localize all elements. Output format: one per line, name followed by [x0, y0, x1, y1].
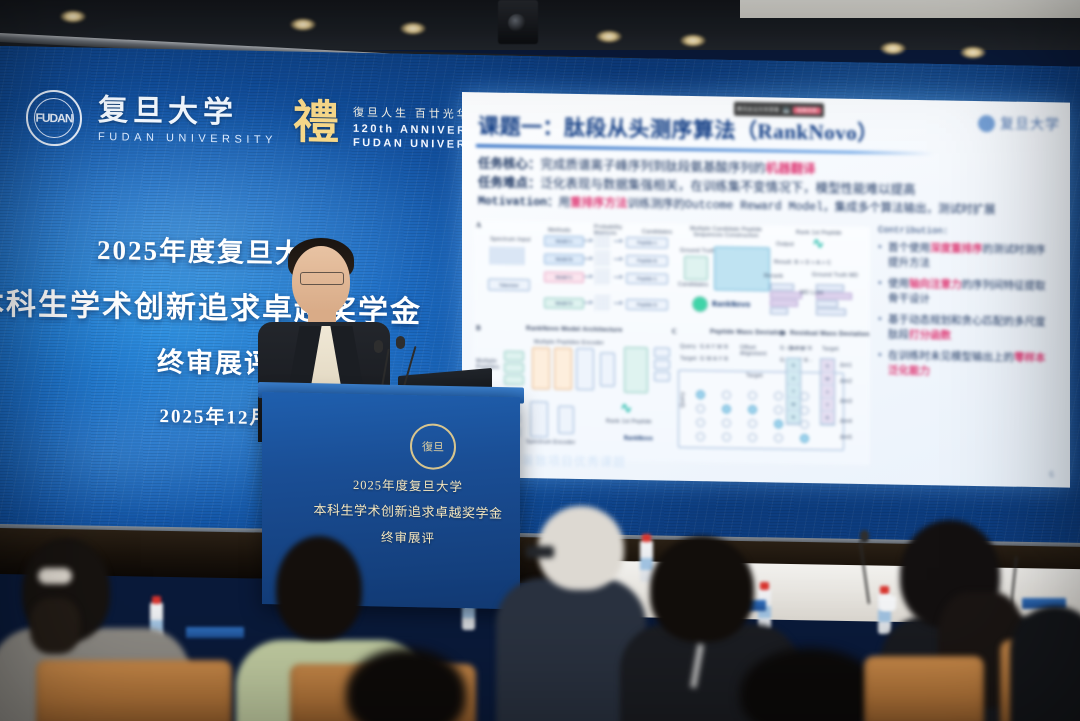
panel-c-query-seq: G A Y W R — [700, 344, 728, 350]
panel-a-input-label: Spectrum Input — [490, 236, 531, 243]
dot-cell — [696, 432, 705, 441]
panel-d-caption: Residual Mass Deviation — [790, 330, 870, 338]
panel-b-rank-label: Rank 1st Peptide — [606, 419, 652, 426]
podium-microphone-head — [374, 340, 383, 353]
contribution-item: 在训练时未见模型输出上的零样本泛化能力 — [878, 348, 1054, 381]
downlight — [680, 34, 706, 47]
panel-b-encoder-label: Multiple Peptides Encoder — [534, 339, 604, 346]
panel-c-query-label: Query — [680, 344, 696, 350]
body-line-3-text-pre: 用 — [559, 197, 571, 210]
spectrum-plot-icon — [490, 246, 524, 265]
speaker-glasses-icon — [300, 272, 344, 285]
body-line-3-text-post: 训练测序的Outcome Reward Model，集成多个算法输出，测试时扩展 — [628, 198, 996, 217]
dot-cell — [800, 434, 809, 443]
rerank-bar — [770, 307, 788, 314]
contribution-item: 基于动态规划和贪心匹配的多尺度肽段打分函数 — [878, 312, 1054, 345]
peptide-curve-icon: ∿ — [620, 401, 633, 416]
gt-bar — [816, 308, 846, 316]
contribution-item: 使用轴向注意力的序列间特征提取骨干设计 — [878, 276, 1054, 309]
podium-line1: 2025年度复旦大学 — [302, 473, 514, 496]
ground-truth-label: Ground Truth — [680, 248, 715, 255]
candidate-table-icon — [714, 246, 770, 291]
fudan-wordmark-cn: 复旦大学 — [98, 95, 277, 128]
podium-microphone-head — [396, 336, 405, 349]
fudan-seal-icon — [978, 115, 995, 132]
bottle-cap — [152, 596, 161, 604]
contribution-heading: Contribution: — [878, 225, 1054, 238]
dot-cell — [696, 390, 705, 399]
paper-cup — [880, 596, 896, 611]
anniversary-glyph-icon: 禮 — [293, 100, 337, 147]
model-node: Model A — [544, 235, 584, 247]
output-label: Output — [776, 241, 794, 247]
body-line-3-highlight: 重排序方法 — [570, 197, 628, 211]
encoder-block — [532, 347, 550, 389]
panel-tag-d: D — [780, 330, 785, 338]
tokenizer-node: Tokenizer — [488, 278, 530, 291]
arrow-icon — [584, 302, 592, 303]
screen-share-label: 腾讯会议共享屏幕 — [737, 105, 779, 113]
slide-fudan-logo: 复旦大学 — [978, 113, 1060, 134]
peptide-node: Peptide B — [626, 255, 668, 267]
table-microphone-head — [860, 530, 869, 543]
out-token — [654, 347, 670, 357]
panel-d-query-label: Query — [788, 346, 804, 352]
encoder-block — [554, 348, 572, 390]
dot-cell — [748, 419, 757, 428]
ffn-block — [600, 352, 615, 386]
conference-photo: FUDAN 复旦大学 FUDAN UNIVERSITY 禮 復旦人生 百廿光华 … — [0, 0, 1080, 721]
audience-head — [276, 536, 362, 640]
probability-matrix-icon — [595, 269, 611, 285]
contribution-pre: 使用 — [888, 278, 909, 289]
hair-scrunchie — [38, 568, 72, 584]
deviation-label: Δm1 — [840, 363, 852, 369]
candidates-label: Candidates — [678, 282, 708, 289]
bottle-cap — [880, 586, 889, 594]
ground-truth-md-label: Ground Truth MD — [812, 272, 858, 279]
projector-camera-icon — [498, 0, 538, 44]
downlight — [880, 42, 906, 55]
panel-a-candidates-label: Candidates — [642, 229, 672, 236]
arrow-icon — [614, 277, 622, 278]
audience-head — [650, 536, 754, 642]
downlight — [60, 10, 86, 23]
chair — [864, 656, 984, 721]
seq-cell: A — [821, 385, 834, 398]
dot-cell — [774, 391, 783, 400]
arrow-icon — [614, 241, 622, 242]
peptide-node: Peptide C — [626, 273, 668, 285]
dot-cell — [774, 433, 783, 442]
fudan-seal-label: FUDAN — [36, 111, 73, 126]
dot-cell — [800, 406, 809, 415]
arrow-icon — [614, 303, 622, 304]
rerank-bar — [770, 291, 802, 299]
probability-matrix-icon — [595, 295, 611, 311]
peptide-input-node — [504, 375, 524, 385]
ground-truth-icon — [684, 256, 708, 280]
podium-seal-label: 復旦 — [422, 438, 444, 454]
seq-cell: W — [821, 372, 834, 385]
out-token — [654, 371, 670, 381]
dot-cell — [748, 405, 757, 414]
rerank-label: Rerank — [764, 273, 783, 279]
spectrum-encoder-block — [530, 401, 548, 437]
ceiling-panel — [740, 0, 1080, 18]
contribution-highlight: 打分函数 — [909, 330, 951, 342]
slide-body: 任务核心：完成质谱离子峰序列到肽段氨基酸序列的机器翻译 任务难点：泛化表现与数据… — [478, 154, 1038, 221]
slide-content: 复旦大学 腾讯会议共享屏幕 💻 结束共享 课题一：肽段从头测序算法（RankNo… — [462, 92, 1070, 488]
bottle-label — [640, 558, 653, 570]
bottle-cap — [760, 582, 769, 590]
dot-cell — [696, 418, 705, 427]
bottle-label — [878, 610, 891, 622]
panel-b-spectrum-encoder-label: Spectrum Encoder — [526, 439, 576, 446]
seq-cell: Y — [787, 385, 800, 398]
dot-cell — [722, 391, 731, 400]
audience-ponytail — [30, 598, 80, 654]
banner-branding: FUDAN 复旦大学 FUDAN UNIVERSITY 禮 復旦人生 百廿光华 … — [26, 89, 508, 154]
rerank-bar — [770, 299, 798, 306]
audience-shoulders — [1010, 606, 1080, 721]
panel-tag-c: C — [672, 328, 677, 336]
contribution-item: 首个使用深度重排序的测试时测序提升方法 — [878, 240, 1054, 273]
peptide-curve-icon: ∿ — [812, 236, 825, 251]
panel-c-align-label: Offset Alignment — [740, 345, 770, 358]
slide-figure: A Spectrum Input Tokenizer Methods Proba… — [474, 220, 870, 465]
panel-c-query-axis-label: Query — [680, 392, 686, 408]
bottle-cap — [642, 534, 651, 542]
panel-c-target-label: Target — [680, 356, 697, 362]
panel-a-methods-label: Methods — [548, 228, 571, 234]
stop-share-button[interactable]: 结束共享 — [793, 106, 821, 113]
arrow-icon — [584, 258, 592, 259]
arrow-icon — [584, 276, 592, 277]
dot-cell — [748, 391, 757, 400]
seq-cell: Y — [821, 398, 834, 411]
peptide-input-node — [504, 351, 524, 361]
panel-c-target-seq: G W A Y R — [700, 356, 728, 362]
body-line-1-highlight: 机器翻译 — [766, 161, 816, 176]
model-node: Model C — [544, 271, 584, 283]
screen-share-icon: 💻 — [782, 106, 789, 113]
dot-cell — [774, 419, 783, 428]
podium-seal-icon: 復旦 — [410, 423, 456, 470]
slide-page-number: 6 — [1049, 469, 1054, 479]
downlight — [960, 46, 986, 59]
dot-cell — [696, 404, 705, 413]
deviation-label: Δm4 — [840, 419, 852, 425]
ranknovo-logo: RankNovo — [712, 300, 750, 310]
dot-cell — [748, 433, 757, 442]
slide-title: 课题一：肽段从头测序算法（RankNovo） — [478, 110, 879, 147]
dot-cell — [800, 420, 809, 429]
panel-c-target-axis-label: Target — [746, 373, 763, 379]
dot-cell — [774, 405, 783, 414]
deviation-label: Δm3 — [840, 399, 852, 405]
seq-cell: G — [821, 359, 834, 372]
deviation-label: Δm2 — [840, 379, 852, 385]
body-line-2-label: 任务难点： — [478, 175, 541, 190]
ranknovo-logo: RankNovo — [624, 435, 653, 443]
dot-cell — [800, 392, 809, 401]
banner-title-line1: 2025年度复旦大学 — [0, 226, 430, 273]
ranknovo-mark-icon — [692, 296, 708, 312]
probability-matrix-icon — [595, 251, 611, 267]
output-block — [624, 347, 648, 393]
spectrum-encoder-block — [558, 406, 574, 434]
panel-tag-b: B — [476, 324, 481, 332]
peptide-input-node — [504, 363, 524, 373]
panel-tag-a: A — [476, 221, 481, 229]
downlight — [596, 30, 622, 43]
target-sequence-column: G W A Y R — [820, 358, 835, 425]
seq-cell: G — [787, 359, 800, 372]
arrow-icon — [614, 259, 622, 260]
result-label: Result: B > D > A > C — [774, 259, 831, 266]
out-token — [654, 359, 670, 369]
contribution-highlight: 轴向注意力 — [909, 279, 962, 291]
panel-a-construction-label: Multiple Candidate Peptide Sequences Con… — [688, 226, 764, 239]
peptide-node: Peptide D — [626, 299, 668, 311]
gt-bar — [816, 300, 838, 307]
panel-c-caption: Peptide Mass Deviation — [710, 328, 786, 336]
rerank-bar — [770, 283, 794, 290]
audience-glasses-icon — [526, 546, 554, 558]
model-node: Model D — [544, 297, 584, 309]
fudan-wordmark-en: FUDAN UNIVERSITY — [98, 130, 277, 145]
query-sequence-column: G A Y W R — [786, 358, 801, 425]
seq-cell: A — [787, 372, 800, 385]
peptide-node: Peptide A — [626, 237, 668, 249]
model-node: Model B — [544, 253, 584, 265]
contribution-pre: 首个使用 — [888, 242, 930, 254]
contribution-block: Contribution: 首个使用深度重排序的测试时测序提升方法 使用轴向注意… — [878, 225, 1054, 387]
dot-cell — [722, 405, 731, 414]
contribution-pre: 在训练时未见模型输出上的 — [888, 350, 1014, 363]
arrow-icon — [584, 240, 592, 241]
panel-b-caption: RankNovo Model Architecture — [526, 325, 622, 334]
attention-block — [576, 348, 594, 390]
seq-cell: W — [787, 398, 800, 411]
downlight — [290, 18, 316, 31]
contribution-list: 首个使用深度重排序的测试时测序提升方法 使用轴向注意力的序列间特征提取骨干设计 … — [878, 240, 1054, 381]
chair — [36, 660, 232, 721]
md-loss-label: MD Loss — [800, 290, 823, 296]
body-line-1-text: 完成质谱离子峰序列到肽段氨基酸序列的 — [541, 157, 766, 175]
fudan-seal-icon: FUDAN — [26, 89, 82, 146]
fudan-wordmark: 复旦大学 FUDAN UNIVERSITY — [98, 95, 277, 145]
podium-line2: 本科生学术创新追求卓越奖学金 — [302, 499, 514, 522]
panel-d-target-label: Target — [822, 346, 839, 352]
body-line-3-label: Motivation： — [478, 195, 559, 209]
name-plate — [186, 627, 244, 638]
dot-cell — [722, 419, 731, 428]
projected-slide: 复旦大学 腾讯会议共享屏幕 💻 结束共享 课题一：肽段从头测序算法（RankNo… — [462, 92, 1070, 488]
body-line-1-label: 任务核心： — [478, 156, 541, 171]
contribution-highlight: 深度重排序 — [930, 243, 983, 255]
seq-cell: R — [821, 411, 834, 424]
deviation-label: Δm5 — [840, 435, 852, 441]
seq-cell: R — [787, 411, 800, 424]
dot-cell — [722, 433, 731, 442]
downlight — [400, 22, 426, 35]
podium-text: 2025年度复旦大学 本科生学术创新追求卓越奖学金 终审展评 — [302, 473, 514, 548]
slide-logo-label: 复旦大学 — [1000, 113, 1060, 134]
probability-matrix-icon — [595, 233, 611, 249]
